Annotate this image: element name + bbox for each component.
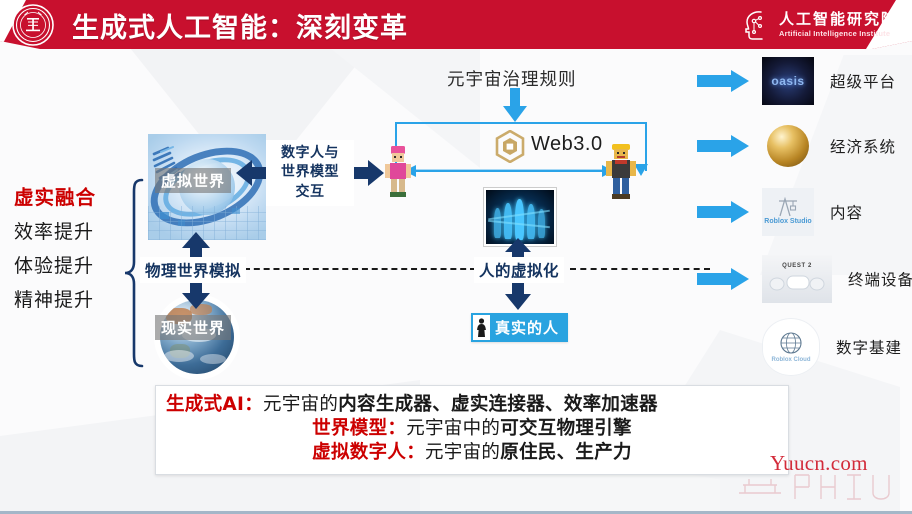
real-person-label: 真实的人 xyxy=(495,317,559,338)
institute-name-en: Artificial Intelligence Institute xyxy=(779,30,898,38)
human-virtualization-label: 人的虚拟化 xyxy=(474,257,564,283)
person-pictogram-icon xyxy=(473,315,490,340)
right-list-row: 经济系统 xyxy=(697,122,896,170)
vr-headset-icon xyxy=(769,271,825,295)
roblox-studio-thumb: Roblox Studio xyxy=(762,188,814,236)
blue-right-arrow-icon xyxy=(697,268,749,290)
summary-sep: ： xyxy=(387,418,406,439)
summary-sep: ： xyxy=(244,394,263,415)
oasis-logo-thumb: oasis xyxy=(762,57,814,105)
slide-header: 生成式人工智能：深刻变革 人工智能研究院 Artificial Intellig… xyxy=(0,0,912,49)
roblox-avatar-builder xyxy=(605,143,637,199)
summary-key: 世界模型 xyxy=(312,418,387,439)
avatar-bidirectional-arrow xyxy=(404,164,614,178)
summary-line: 世界模型：元宇宙中的可交互物理引擎 xyxy=(166,417,778,441)
quest2-text: QUEST 2 xyxy=(782,263,812,269)
roblox-hex-icon xyxy=(495,130,525,163)
summary-key: 生成式AI xyxy=(166,394,244,415)
summary-line: 虚拟数字人：元宇宙的原住民、生产力 xyxy=(166,441,778,465)
dashed-connector-left xyxy=(244,268,476,270)
roblox-cloud-text: Roblox Cloud xyxy=(772,357,811,364)
right-list-row: Roblox Studio 内容 xyxy=(697,188,863,236)
physical-world-simulation-label: 物理世界模拟 xyxy=(140,257,246,283)
right-list-label: 超级平台 xyxy=(830,70,896,92)
blue-right-arrow-icon xyxy=(697,201,749,223)
quest2-headset-thumb: QUEST 2 xyxy=(762,255,832,303)
ai-head-icon xyxy=(742,9,772,41)
summary-plain: 元宇宙的 xyxy=(425,442,500,463)
roblox-studio-text: Roblox Studio xyxy=(764,218,811,226)
summary-plain: 元宇宙的 xyxy=(263,394,338,415)
bullet-item: 虚实融合 xyxy=(14,188,126,208)
bullet-item: 效率提升 xyxy=(14,223,126,242)
oasis-logo-text: oasis xyxy=(771,74,804,88)
dh-line: 数字人与 xyxy=(268,144,352,163)
watermark-text: Yuucn.com xyxy=(770,451,868,476)
page-title: 生成式人工智能：深刻变革 xyxy=(72,5,408,45)
right-list-label: 数字基建 xyxy=(836,336,902,358)
network-sphere-icon xyxy=(779,331,803,355)
roblox-cloud-thumb: Roblox Cloud xyxy=(762,318,820,376)
right-list-label: 经济系统 xyxy=(830,135,896,157)
real-person-badge: 真实的人 xyxy=(471,313,568,342)
blue-right-arrow-icon xyxy=(697,135,749,157)
summary-sep: ： xyxy=(406,442,425,463)
summary-plain: 元宇宙中的 xyxy=(406,418,500,439)
right-list-label: 终端设备 xyxy=(848,268,912,290)
crane-icon xyxy=(777,197,799,217)
bullet-item: 体验提升 xyxy=(14,257,126,276)
dh-line: 交互 xyxy=(268,183,352,202)
gold-coin-globe-thumb xyxy=(762,122,814,170)
dh-line: 世界模型 xyxy=(268,163,352,182)
digital-human-interaction-box: 数字人与 世界模型 交互 xyxy=(266,140,354,206)
real-world-label: 现实世界 xyxy=(155,315,231,340)
virtual-world-label: 虚拟世界 xyxy=(155,168,231,193)
web3-label: Web3.0 xyxy=(531,133,603,156)
roblox-avatar-pink xyxy=(383,145,413,197)
arrow-down-governance xyxy=(503,88,527,122)
arrow-left-to-virtual-world xyxy=(236,160,270,186)
summary-box: 生成式AI：元宇宙的内容生成器、虚实连接器、效率加速器 世界模型：元宇宙中的可交… xyxy=(155,385,789,475)
sjtu-seal-icon xyxy=(12,4,54,46)
bullet-item: 精神提升 xyxy=(14,291,126,310)
summary-key: 虚拟数字人 xyxy=(312,442,406,463)
right-list-label: 内容 xyxy=(830,201,863,223)
blue-right-arrow-icon xyxy=(697,70,749,92)
dashed-connector-right xyxy=(570,268,710,270)
institute-logo: 人工智能研究院 Artificial Intelligence Institut… xyxy=(742,4,898,45)
summary-emph: 内容生成器、虚实连接器、效率加速器 xyxy=(338,394,658,415)
left-bullet-list: 虚实融合 效率提升 体验提升 精神提升 xyxy=(14,188,126,325)
institute-name-cn: 人工智能研究院 xyxy=(779,12,898,27)
summary-line: 生成式AI：元宇宙的内容生成器、虚实连接器、效率加速器 xyxy=(166,393,778,417)
summary-emph: 可交互物理引擎 xyxy=(500,418,632,439)
summary-emph: 原住民、生产力 xyxy=(500,442,632,463)
right-list-row: oasis 超级平台 xyxy=(697,57,896,105)
right-list-row: Roblox Cloud 数字基建 xyxy=(697,318,902,376)
slide-canvas: 生成式人工智能：深刻变革 人工智能研究院 Artificial Intellig… xyxy=(0,0,912,514)
right-list-row: QUEST 2 终端设备 xyxy=(697,255,912,303)
